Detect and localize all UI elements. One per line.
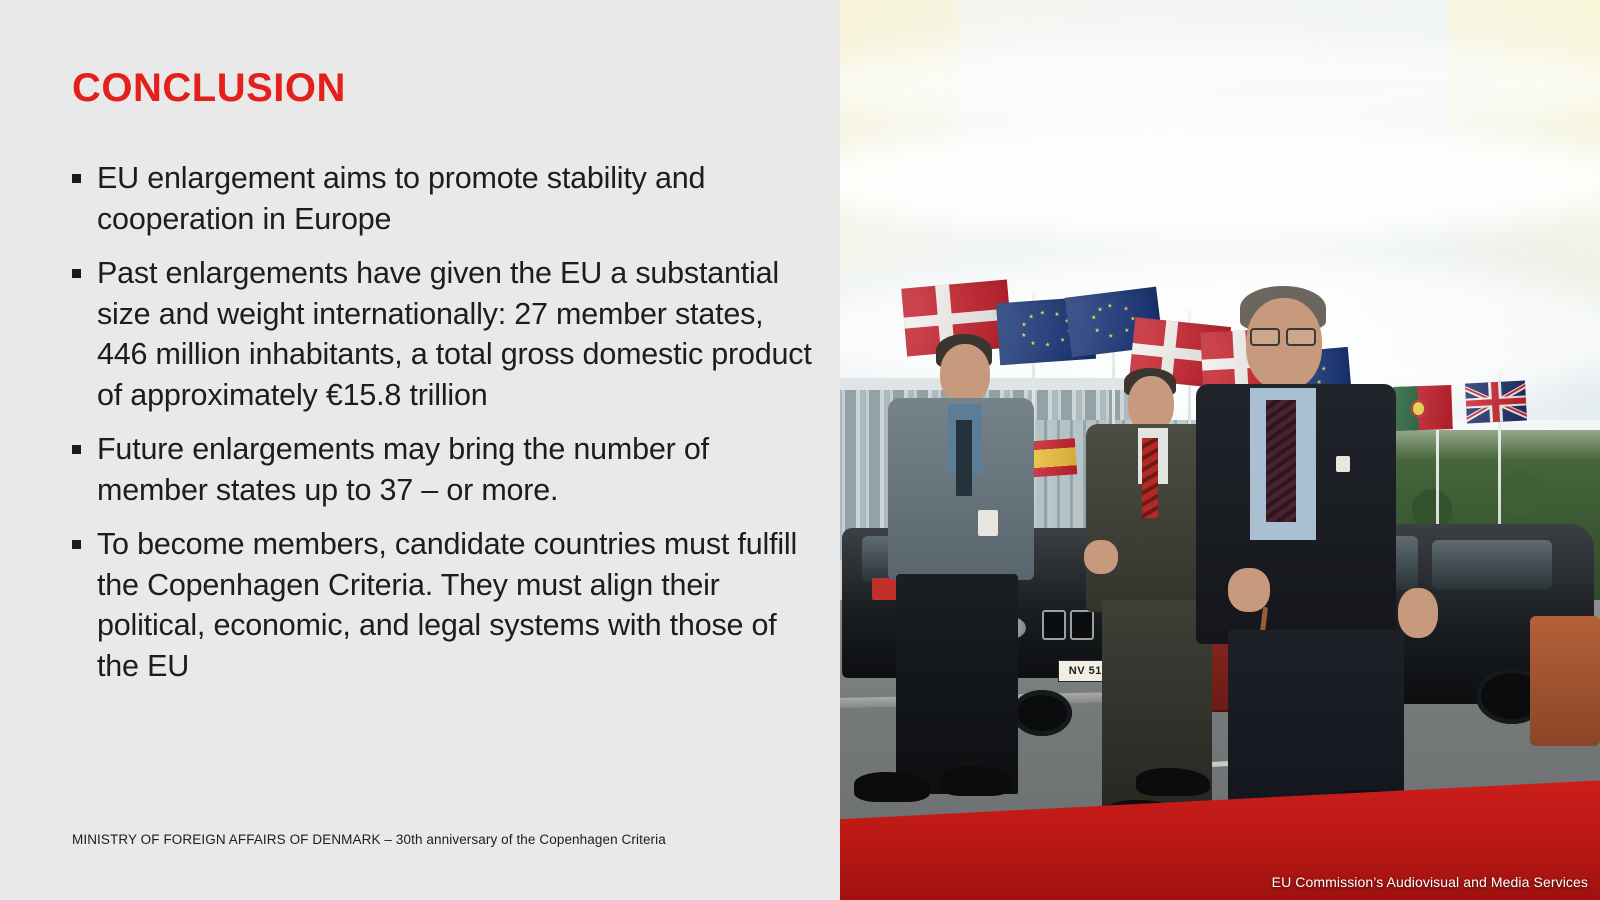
eu-star-icon: [1030, 340, 1035, 345]
person-head: [940, 344, 990, 404]
flag-united-kingdom: [1465, 380, 1527, 423]
union-jack-cross-horizontal-red: [1466, 398, 1526, 407]
eu-star-icon: [1091, 315, 1097, 321]
bullet-text: Future enlargements may bring the number…: [97, 429, 812, 510]
person-shoe: [1136, 768, 1210, 796]
page-title: CONCLUSION: [72, 66, 346, 111]
eu-star-icon: [1107, 303, 1113, 309]
person-hand: [1084, 540, 1118, 574]
bullet-text: EU enlargement aims to promote stability…: [97, 158, 812, 239]
car-window: [1432, 540, 1552, 590]
flag-cross-horizontal: [904, 308, 1011, 329]
eu-star-icon: [1123, 306, 1129, 312]
portugal-armillary-icon: [1411, 400, 1427, 417]
id-badge: [978, 510, 998, 536]
cloud-band: [836, 120, 1600, 240]
leather-bag: [1530, 616, 1600, 746]
union-jack-diagonal: [1465, 380, 1527, 423]
bullet-text: Past enlargements have given the EU a su…: [97, 253, 812, 415]
person-tie: [1142, 438, 1158, 518]
eu-star-icon: [1060, 337, 1065, 342]
union-jack-diagonal: [1465, 383, 1527, 422]
eu-star-icon: [1045, 342, 1050, 347]
person-tie: [1266, 400, 1296, 522]
eu-star-icon: [1321, 366, 1326, 371]
portugal-green-field: [1393, 386, 1419, 431]
slide-footer: MINISTRY OF FOREIGN AFFAIRS OF DENMARK –…: [72, 832, 666, 847]
photo-scene: NV 51 392: [836, 0, 1600, 900]
list-item: EU enlargement aims to promote stability…: [72, 158, 812, 239]
person-tie: [956, 420, 972, 496]
car-grille: [1070, 610, 1094, 640]
slide-photograph: NV 51 392: [836, 0, 1600, 900]
union-jack-diagonal-red: [1465, 384, 1527, 420]
square-bullet-icon: [72, 445, 81, 454]
eyeglasses-icon: [1286, 328, 1316, 346]
lapel-pin: [1336, 456, 1350, 472]
slide-content-panel: CONCLUSION EU enlargement aims to promot…: [0, 0, 836, 900]
eu-star-icon: [1097, 306, 1103, 312]
eu-star-icon: [1124, 327, 1130, 333]
car-sticker: [872, 578, 898, 600]
square-bullet-icon: [72, 174, 81, 183]
eu-star-icon: [1094, 327, 1100, 333]
eu-star-icon: [1021, 322, 1026, 327]
car-wheel: [1012, 690, 1072, 736]
list-item: Future enlargements may bring the number…: [72, 429, 812, 510]
list-item: To become members, candidate countries m…: [72, 524, 812, 686]
square-bullet-icon: [72, 540, 81, 549]
person-shoe: [940, 766, 1012, 796]
eu-star-icon: [1021, 332, 1026, 337]
person-shoe: [854, 772, 930, 802]
person-trousers: [896, 574, 1018, 794]
eyeglasses-icon: [1250, 328, 1280, 346]
bullet-text: To become members, candidate countries m…: [97, 524, 812, 686]
car-grille: [1042, 610, 1066, 640]
person-hand: [1228, 568, 1270, 612]
union-jack-cross-vertical: [1488, 382, 1503, 423]
bullet-list: EU enlargement aims to promote stability…: [72, 158, 812, 700]
union-jack-cross-horizontal: [1466, 396, 1526, 409]
union-jack-diagonal-red: [1465, 380, 1527, 423]
eu-star-icon: [1108, 333, 1114, 339]
union-jack-cross-vertical-red: [1491, 382, 1500, 422]
eu-star-icon: [1054, 311, 1059, 316]
cloud-band: [836, 40, 1600, 130]
flag-portugal: [1393, 385, 1453, 431]
photo-credit-caption: EU Commission’s Audiovisual and Media Se…: [1272, 874, 1588, 890]
person-hand: [1398, 588, 1438, 638]
list-item: Past enlargements have given the EU a su…: [72, 253, 812, 415]
eu-star-icon: [1028, 314, 1033, 319]
presentation-slide: CONCLUSION EU enlargement aims to promot…: [0, 0, 1600, 900]
square-bullet-icon: [72, 269, 81, 278]
eu-star-icon: [1040, 310, 1045, 315]
building-roofline: [836, 378, 1146, 390]
photo-left-edge: [836, 0, 840, 900]
